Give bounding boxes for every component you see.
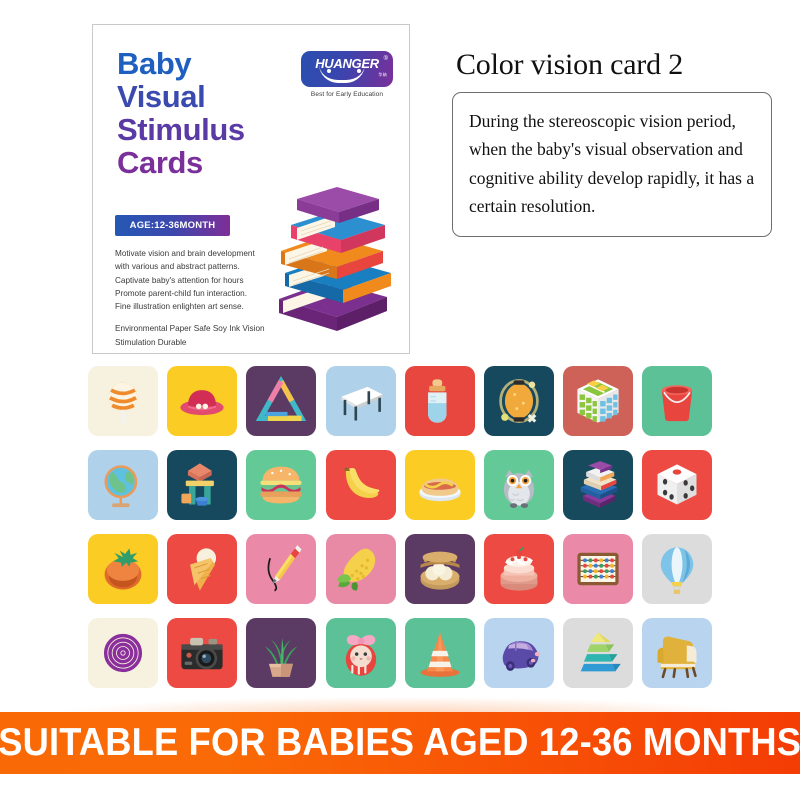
tomato-icon [97, 543, 149, 595]
steamed-buns-icon [414, 543, 466, 595]
flash-card-book-stack[interactable] [563, 450, 633, 520]
dice-icon [651, 459, 703, 511]
car-icon [493, 627, 545, 679]
armchair-icon [651, 627, 703, 679]
sun-hat-icon [176, 375, 228, 427]
owl-icon [493, 459, 545, 511]
flash-card-bucket[interactable] [642, 366, 712, 436]
top-section: Baby Visual Stimulus Cards HUANGER ® 华纳 … [0, 0, 800, 360]
flash-card-camera[interactable] [167, 618, 237, 688]
flash-card-rubiks-cube[interactable] [563, 366, 633, 436]
penrose-triangle-icon [255, 375, 307, 427]
logo-sub-mark: 华纳 [378, 72, 387, 78]
flash-card-ice-cream-cone[interactable] [167, 534, 237, 604]
rubiks-cube-icon [572, 375, 624, 427]
pyramid-chart-icon [572, 627, 624, 679]
logo-tagline: Best for Early Education [301, 91, 393, 98]
logo-smile-icon [319, 64, 365, 83]
camera-icon [176, 627, 228, 679]
globe-icon [97, 459, 149, 511]
package-title-line-4: Cards [117, 146, 317, 179]
book-stack-illustration [267, 181, 395, 339]
logo-badge: HUANGER ® 华纳 [301, 51, 393, 87]
flash-card-bananas[interactable] [326, 450, 396, 520]
layer-cake-icon [493, 543, 545, 595]
registered-trademark-icon: ® [384, 56, 388, 62]
page-title: Color vision card 2 [456, 48, 782, 82]
corn-icon [335, 543, 387, 595]
description-text: During the stereoscopic vision period, w… [469, 107, 755, 220]
pencil-icon [255, 543, 307, 595]
flash-card-penrose-triangle[interactable] [246, 366, 316, 436]
daruma-doll-icon [335, 627, 387, 679]
potted-plant-icon [255, 627, 307, 679]
flash-card-sun-hat[interactable] [167, 366, 237, 436]
flash-card-pencil[interactable] [246, 534, 316, 604]
flash-card-armchair[interactable] [642, 618, 712, 688]
abacus-icon [572, 543, 624, 595]
brand-logo: HUANGER ® 华纳 Best for Early Education [301, 51, 393, 98]
banner-glow [0, 690, 800, 714]
flash-card-owl[interactable] [484, 450, 554, 520]
book-stack-icon [572, 459, 624, 511]
package-title: Baby Visual Stimulus Cards [117, 47, 317, 180]
product-package: Baby Visual Stimulus Cards HUANGER ® 华纳 … [92, 24, 410, 354]
package-title-line-3: Stimulus [117, 113, 317, 146]
flash-card-hamburger[interactable] [246, 450, 316, 520]
description-box: During the stereoscopic vision period, w… [452, 92, 772, 237]
flash-card-steamed-buns[interactable] [405, 534, 475, 604]
flash-card-layer-cake[interactable] [484, 534, 554, 604]
hot-air-balloon-icon [651, 543, 703, 595]
flash-card-building-blocks[interactable] [167, 450, 237, 520]
flash-card-swirl-ball[interactable] [88, 618, 158, 688]
hamburger-icon [255, 459, 307, 511]
flash-card-daruma-doll[interactable] [326, 618, 396, 688]
bottom-banner: SUITABLE FOR BABIES AGED 12-36 MONTHS [0, 712, 800, 774]
flash-card-dice[interactable] [642, 450, 712, 520]
flash-card-table[interactable] [326, 366, 396, 436]
hot-dog-icon [414, 459, 466, 511]
package-title-line-1: Baby [117, 47, 317, 80]
flash-card-traffic-cone[interactable] [405, 618, 475, 688]
flash-card-globe[interactable] [88, 450, 158, 520]
info-panel: Color vision card 2 During the stereosco… [452, 48, 782, 237]
flash-card-baby-bottle[interactable] [405, 366, 475, 436]
banner-text: SUITABLE FOR BABIES AGED 12-36 MONTHS [0, 721, 800, 765]
lollipop-icon [97, 375, 149, 427]
package-title-line-2: Visual [117, 80, 317, 113]
flash-card-lantern[interactable] [484, 366, 554, 436]
flash-card-pyramid-chart[interactable] [563, 618, 633, 688]
flash-card-abacus[interactable] [563, 534, 633, 604]
flash-card-grid [88, 366, 712, 688]
flash-card-lollipop[interactable] [88, 366, 158, 436]
flash-card-hot-air-balloon[interactable] [642, 534, 712, 604]
swirl-ball-icon [97, 627, 149, 679]
flash-card-corn[interactable] [326, 534, 396, 604]
table-icon [335, 375, 387, 427]
flash-card-tomato[interactable] [88, 534, 158, 604]
bucket-icon [651, 375, 703, 427]
building-blocks-icon [176, 459, 228, 511]
ice-cream-cone-icon [176, 543, 228, 595]
flash-card-potted-plant[interactable] [246, 618, 316, 688]
flash-card-car[interactable] [484, 618, 554, 688]
lantern-icon [493, 375, 545, 427]
baby-bottle-icon [414, 375, 466, 427]
traffic-cone-icon [414, 627, 466, 679]
flash-card-hot-dog[interactable] [405, 450, 475, 520]
bananas-icon [335, 459, 387, 511]
age-range-badge: AGE:12-36MONTH [115, 215, 230, 236]
